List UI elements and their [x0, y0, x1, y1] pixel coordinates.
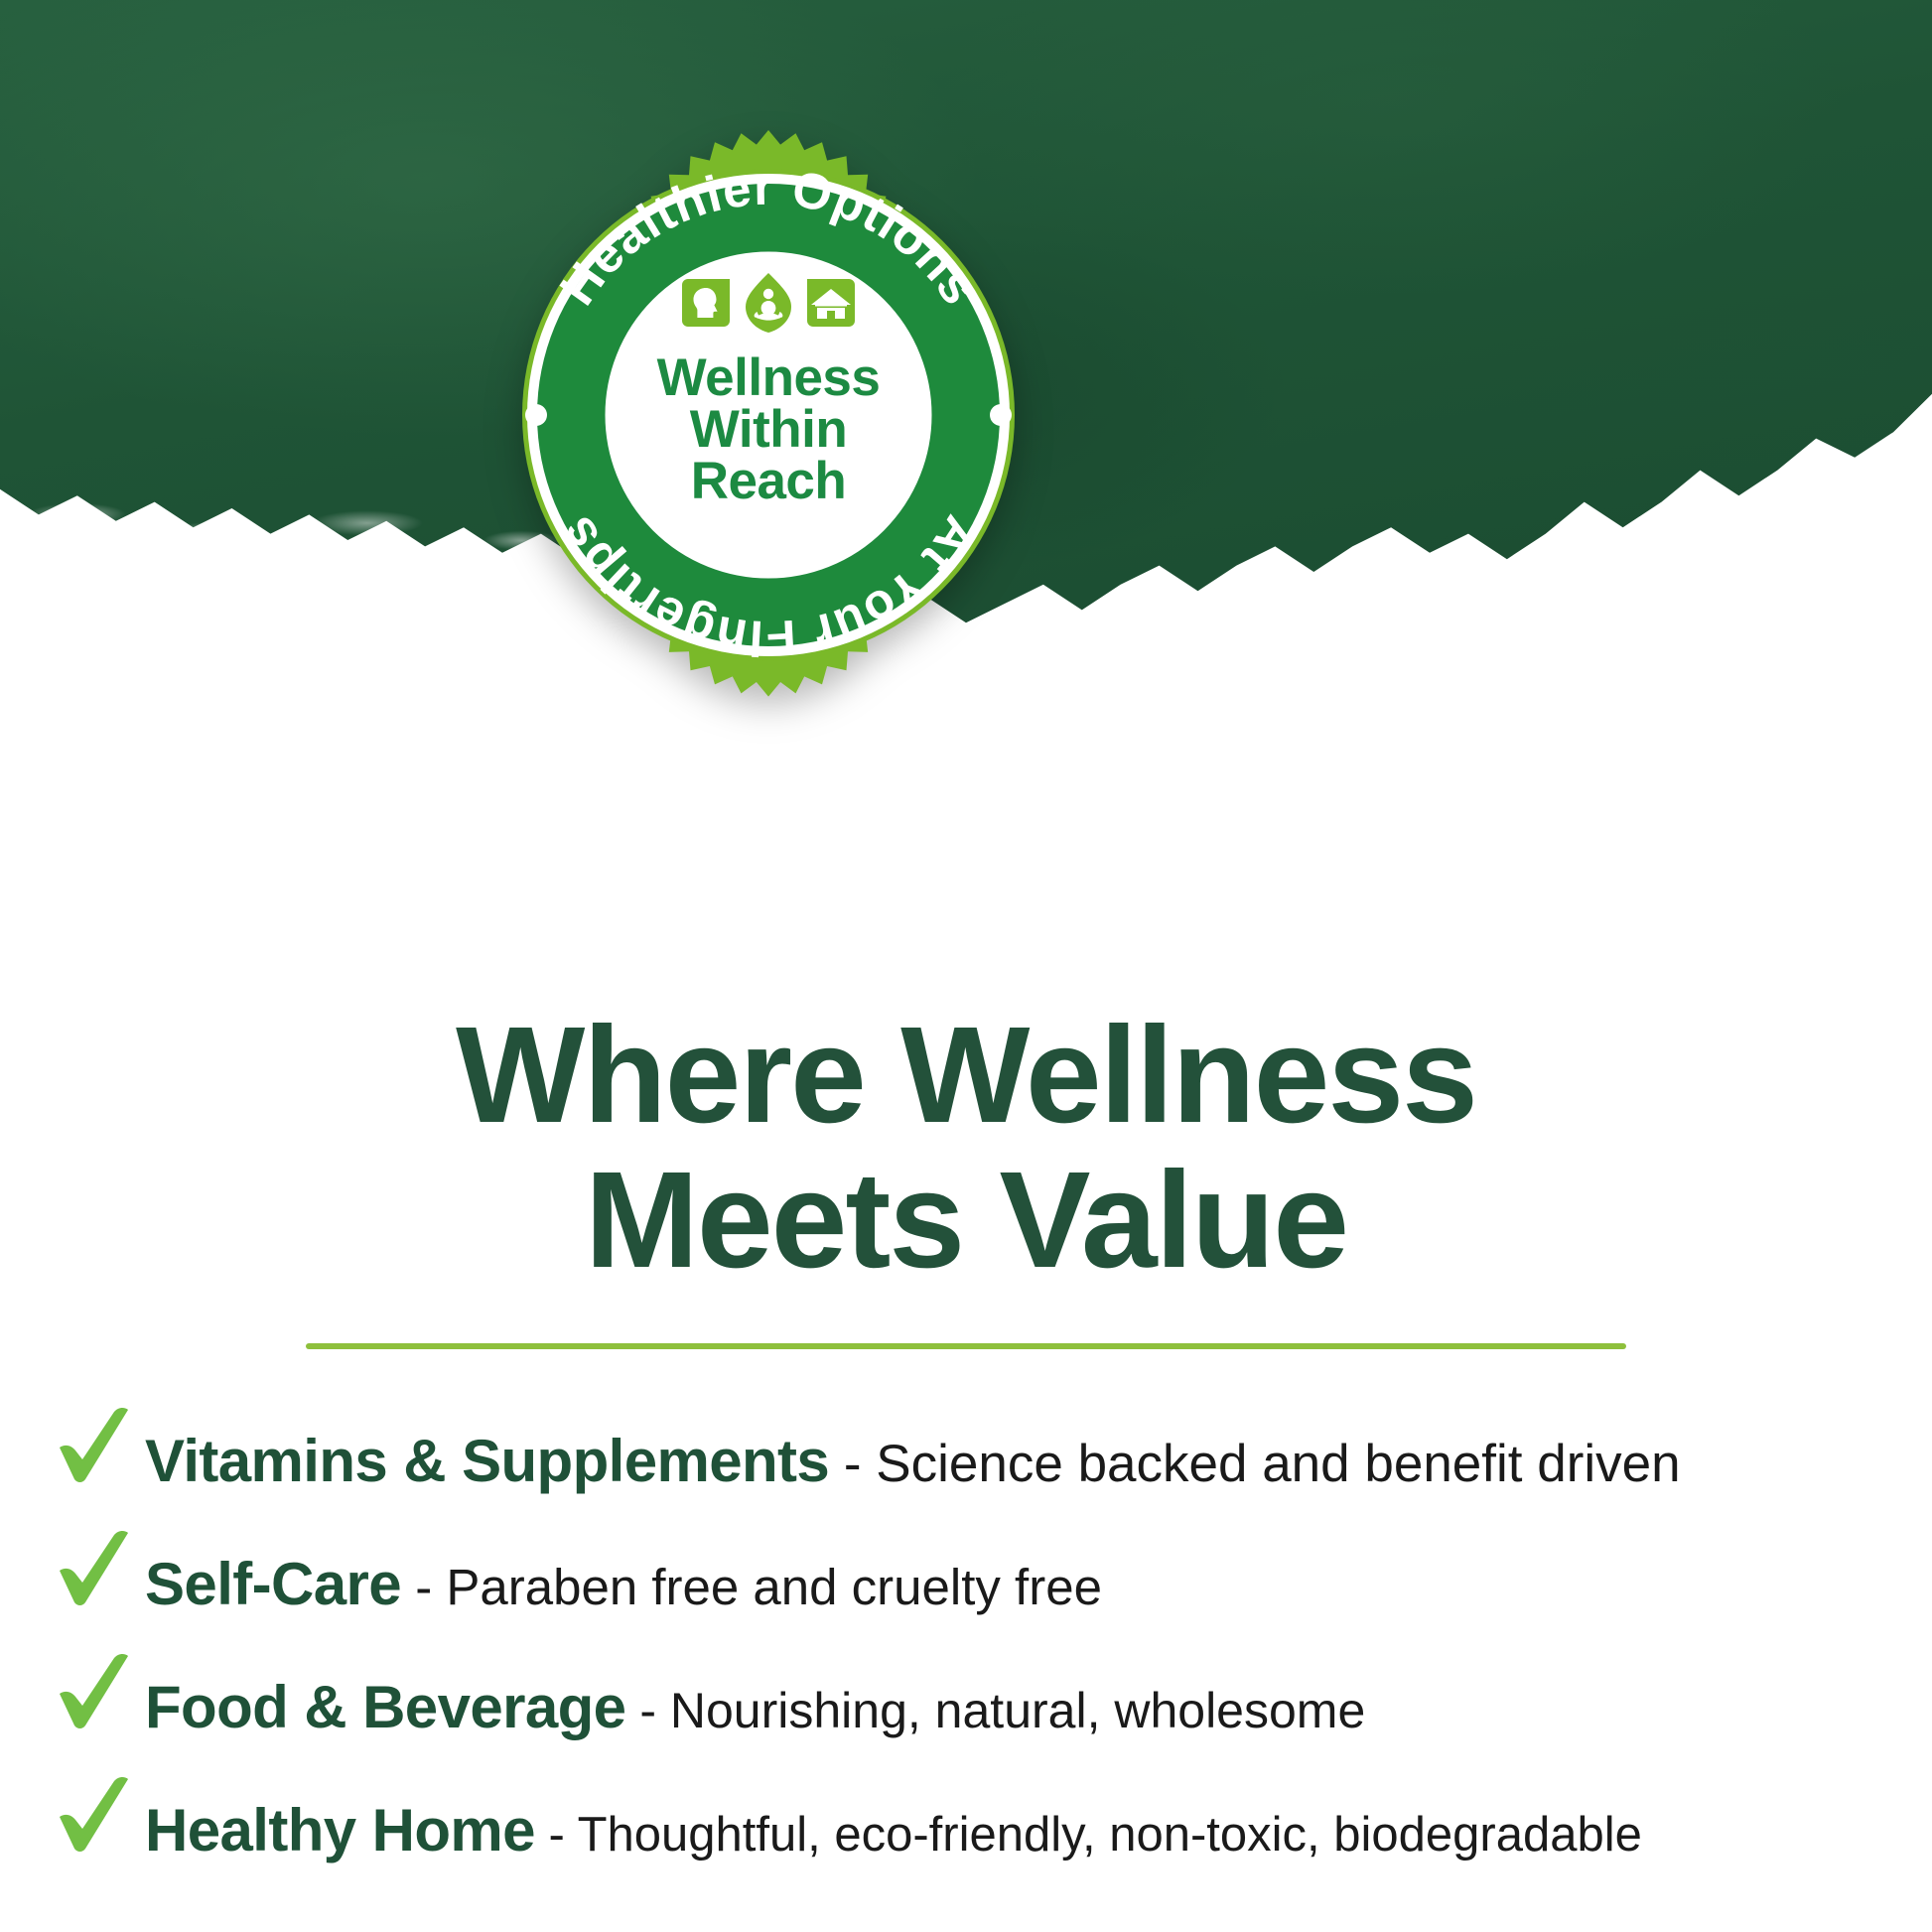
checkmark-icon [52, 1527, 145, 1610]
list-item-label: Food & Beverage [145, 1674, 625, 1740]
list-item-label: Healthy Home [145, 1797, 535, 1863]
list-item-label: Vitamins & Supplements [145, 1428, 829, 1494]
list-item-desc: - Nourishing, natural, wholesome [625, 1683, 1365, 1738]
checkmark-icon [52, 1650, 145, 1733]
list-item: Self-Care - Paraben free and cruelty fre… [52, 1521, 1908, 1644]
list-item-text: Vitamins & Supplements - Science backed … [145, 1427, 1681, 1495]
checkmark-icon [52, 1404, 145, 1487]
seal-inner-disc [618, 264, 919, 566]
checkmark-icon [52, 1773, 145, 1857]
list-item-desc: - Paraben free and cruelty free [401, 1559, 1102, 1615]
section-divider [306, 1343, 1626, 1349]
seal-dot-left [525, 404, 547, 426]
page-title: Where Wellness Meets Value [0, 1003, 1932, 1294]
list-item: Vitamins & Supplements - Science backed … [52, 1398, 1908, 1521]
headline-line-2: Meets Value [0, 1148, 1932, 1293]
list-item: Food & Beverage - Nourishing, natural, w… [52, 1644, 1908, 1767]
headline-line-1: Where Wellness [0, 1003, 1932, 1148]
wellness-seal-badge: Healthier Options At Your Fingertips [481, 127, 1056, 703]
list-item-label: Self-Care [145, 1551, 401, 1617]
list-item-desc: - Science backed and benefit driven [829, 1435, 1680, 1493]
list-item-text: Food & Beverage - Nourishing, natural, w… [145, 1673, 1365, 1741]
poster-canvas: Healthier Options At Your Fingertips [0, 0, 1932, 1932]
feature-list: Vitamins & Supplements - Science backed … [52, 1398, 1908, 1890]
list-item-text: Healthy Home - Thoughtful, eco-friendly,… [145, 1796, 1642, 1864]
list-item-desc: - Thoughtful, eco-friendly, non-toxic, b… [535, 1808, 1642, 1862]
list-item: Healthy Home - Thoughtful, eco-friendly,… [52, 1767, 1908, 1890]
list-item-text: Self-Care - Paraben free and cruelty fre… [145, 1550, 1102, 1618]
seal-dot-right [990, 404, 1012, 426]
seal-graphic: Healthier Options At Your Fingertips [481, 127, 1056, 703]
